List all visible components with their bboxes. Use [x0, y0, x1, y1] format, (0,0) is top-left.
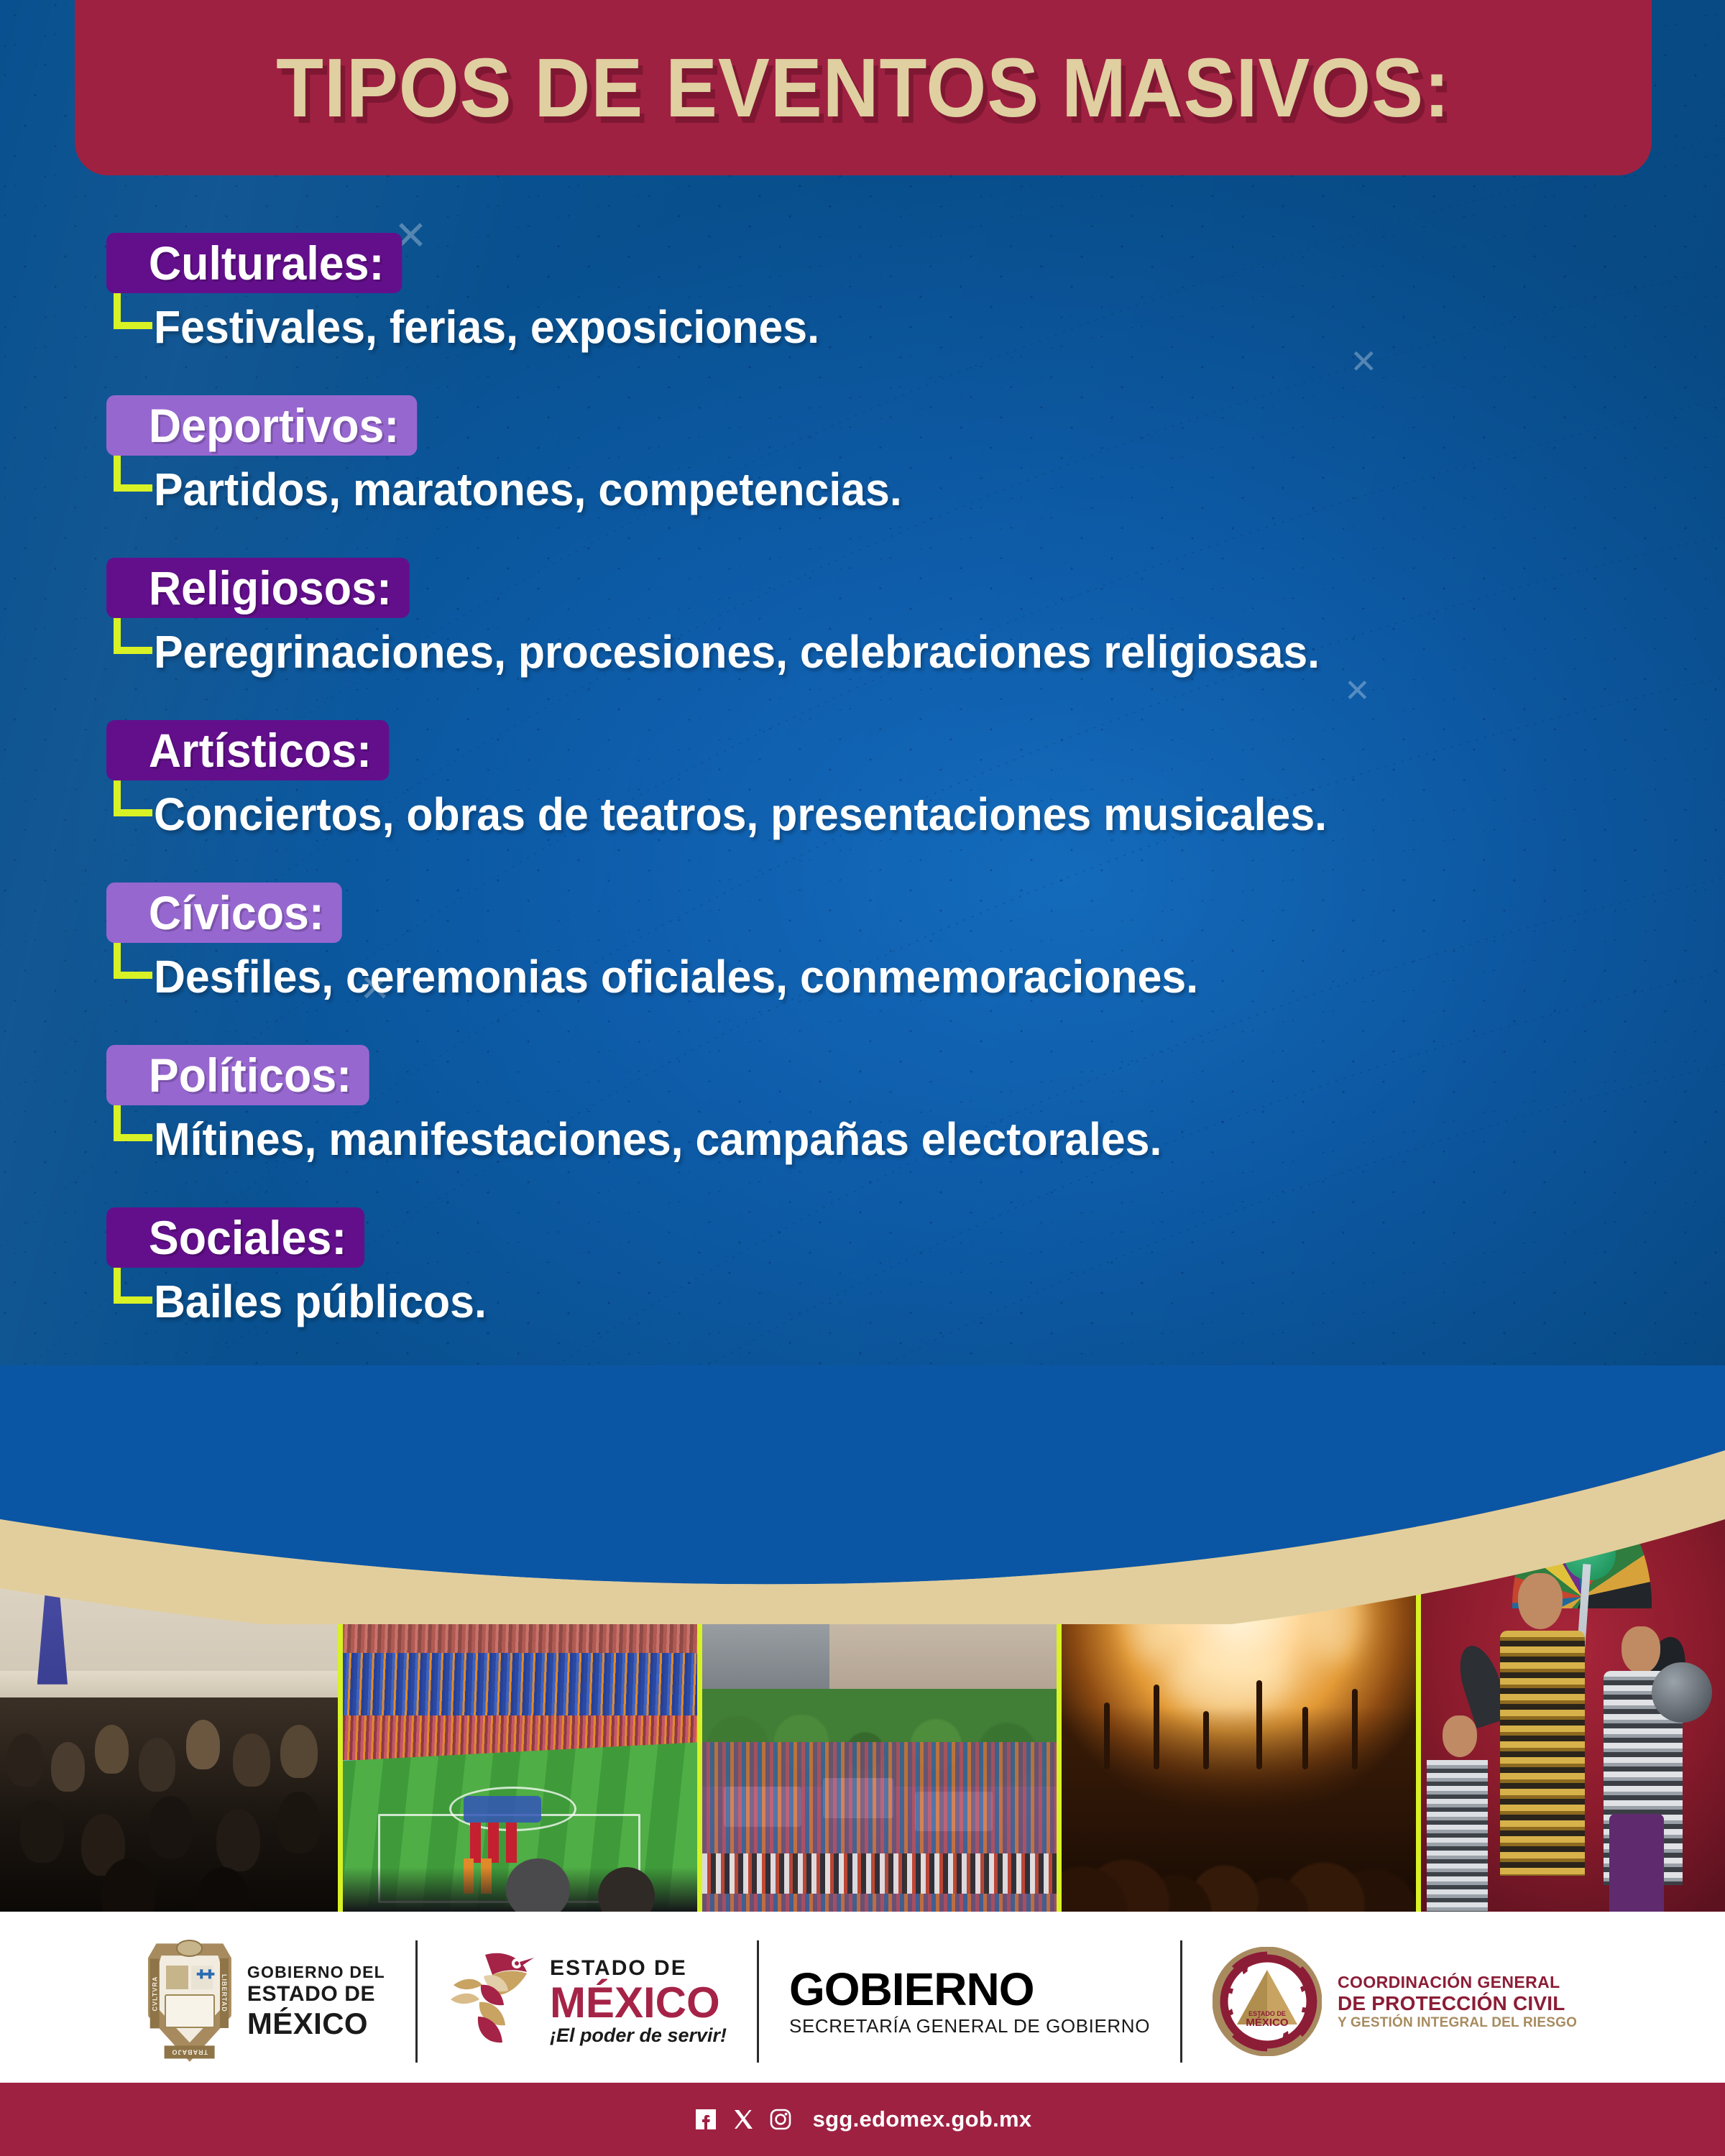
logo-line-3: ¡El poder de servir!	[550, 2024, 727, 2047]
logo-proteccion-civil-text: COORDINACIÓN GENERAL DE PROTECCIÓN CIVIL…	[1338, 1973, 1577, 2031]
list-item-label: Artísticos:	[106, 720, 390, 780]
logo-line-3: MÉXICO	[247, 2007, 385, 2041]
escudo-motto-right: LIBERTAD	[220, 1958, 229, 2028]
list-item-label: Sociales:	[106, 1207, 364, 1268]
logo-line-2: MÉXICO	[550, 1981, 727, 2024]
list-item-description: Peregrinaciones, procesiones, celebracio…	[154, 625, 1320, 678]
footer: ✚ ✚ CVLTVRA LIBERTAD TRABAJO GOBIERNO DE…	[0, 1912, 1725, 2156]
logo-line-1: GOBIERNO DEL	[247, 1963, 385, 1982]
decorative-x-icon: ✕	[1344, 676, 1371, 707]
list-item-label: Cívicos:	[106, 883, 342, 943]
facebook-icon[interactable]	[694, 2107, 718, 2132]
list-item-description: Partidos, maratones, competencias.	[154, 463, 902, 516]
logo-gobierno-text: GOBIERNO SECRETARÍA GENERAL DE GOBIERNO	[789, 1966, 1150, 2037]
page-title: TIPOS DE EVENTOS MASIVOS:	[130, 0, 1596, 175]
list-item-description: Bailes públicos.	[154, 1275, 487, 1328]
x-icon[interactable]	[731, 2107, 755, 2132]
logo-escudo-text: GOBIERNO DEL ESTADO DE MÉXICO	[247, 1963, 385, 2041]
social-bar: sgg.edomex.gob.mx	[0, 2083, 1725, 2156]
logo-escudo-edomex: ✚ ✚ CVLTVRA LIBERTAD TRABAJO GOBIERNO DE…	[118, 1940, 415, 2063]
logo-line-2: SECRETARÍA GENERAL DE GOBIERNO	[789, 2015, 1150, 2037]
logo-proteccion-civil: ESTADO DE MÉXICO COORDINACIÓN GENERAL DE…	[1180, 1940, 1607, 2063]
logo-gobierno-sgg: GOBIERNO SECRETARÍA GENERAL DE GOBIERNO	[757, 1940, 1180, 2063]
proteccion-civil-seal-icon: ESTADO DE MÉXICO	[1213, 1947, 1322, 2056]
list-item-description: Desfiles, ceremonias oficiales, conmemor…	[154, 950, 1198, 1003]
logo-line-3: Y GESTIÓN INTEGRAL DEL RIESGO	[1338, 2015, 1577, 2031]
logo-line-1: ESTADO DE	[550, 1956, 727, 1981]
logo-line-2: ESTADO DE	[247, 1982, 385, 2007]
footer-logos: ✚ ✚ CVLTVRA LIBERTAD TRABAJO GOBIERNO DE…	[0, 1919, 1725, 2084]
escudo-motto-bottom: TRABAJO	[165, 2045, 215, 2058]
escudo-icon: ✚ ✚ CVLTVRA LIBERTAD TRABAJO	[148, 1941, 231, 2062]
logo-line-1: GOBIERNO	[789, 1966, 1150, 2012]
list-item-description: Mítines, manifestaciones, campañas elect…	[154, 1112, 1161, 1166]
instagram-icon[interactable]	[768, 2107, 793, 2132]
list-item-label: Políticos:	[106, 1045, 369, 1105]
list-item-description: Festivales, ferias, exposiciones.	[154, 300, 819, 354]
logo-estado-de-mexico: ESTADO DE MÉXICO ¡El poder de servir!	[415, 1940, 757, 2063]
decorative-x-icon: ✕	[1350, 345, 1378, 378]
escudo-motto-left: CVLTVRA	[150, 1958, 160, 2028]
list-item-description: Conciertos, obras de teatros, presentaci…	[154, 788, 1327, 841]
logo-line-2: DE PROTECCIÓN CIVIL	[1338, 1992, 1577, 2015]
list-item-label: Religiosos:	[106, 558, 410, 618]
logo-line-1: COORDINACIÓN GENERAL	[1338, 1973, 1577, 1992]
svg-text:MÉXICO: MÉXICO	[1246, 2017, 1289, 2029]
list-item-label: Deportivos:	[106, 395, 417, 456]
gold-wave-divider	[0, 1365, 1725, 1624]
website-url[interactable]: sgg.edomex.gob.mx	[813, 2106, 1032, 2132]
list-item-label: Culturales:	[106, 233, 402, 293]
header-banner: TIPOS DE EVENTOS MASIVOS:	[75, 0, 1652, 175]
logo-edomex-text: ESTADO DE MÉXICO ¡El poder de servir!	[550, 1956, 727, 2047]
colibri-icon	[448, 1948, 534, 2055]
